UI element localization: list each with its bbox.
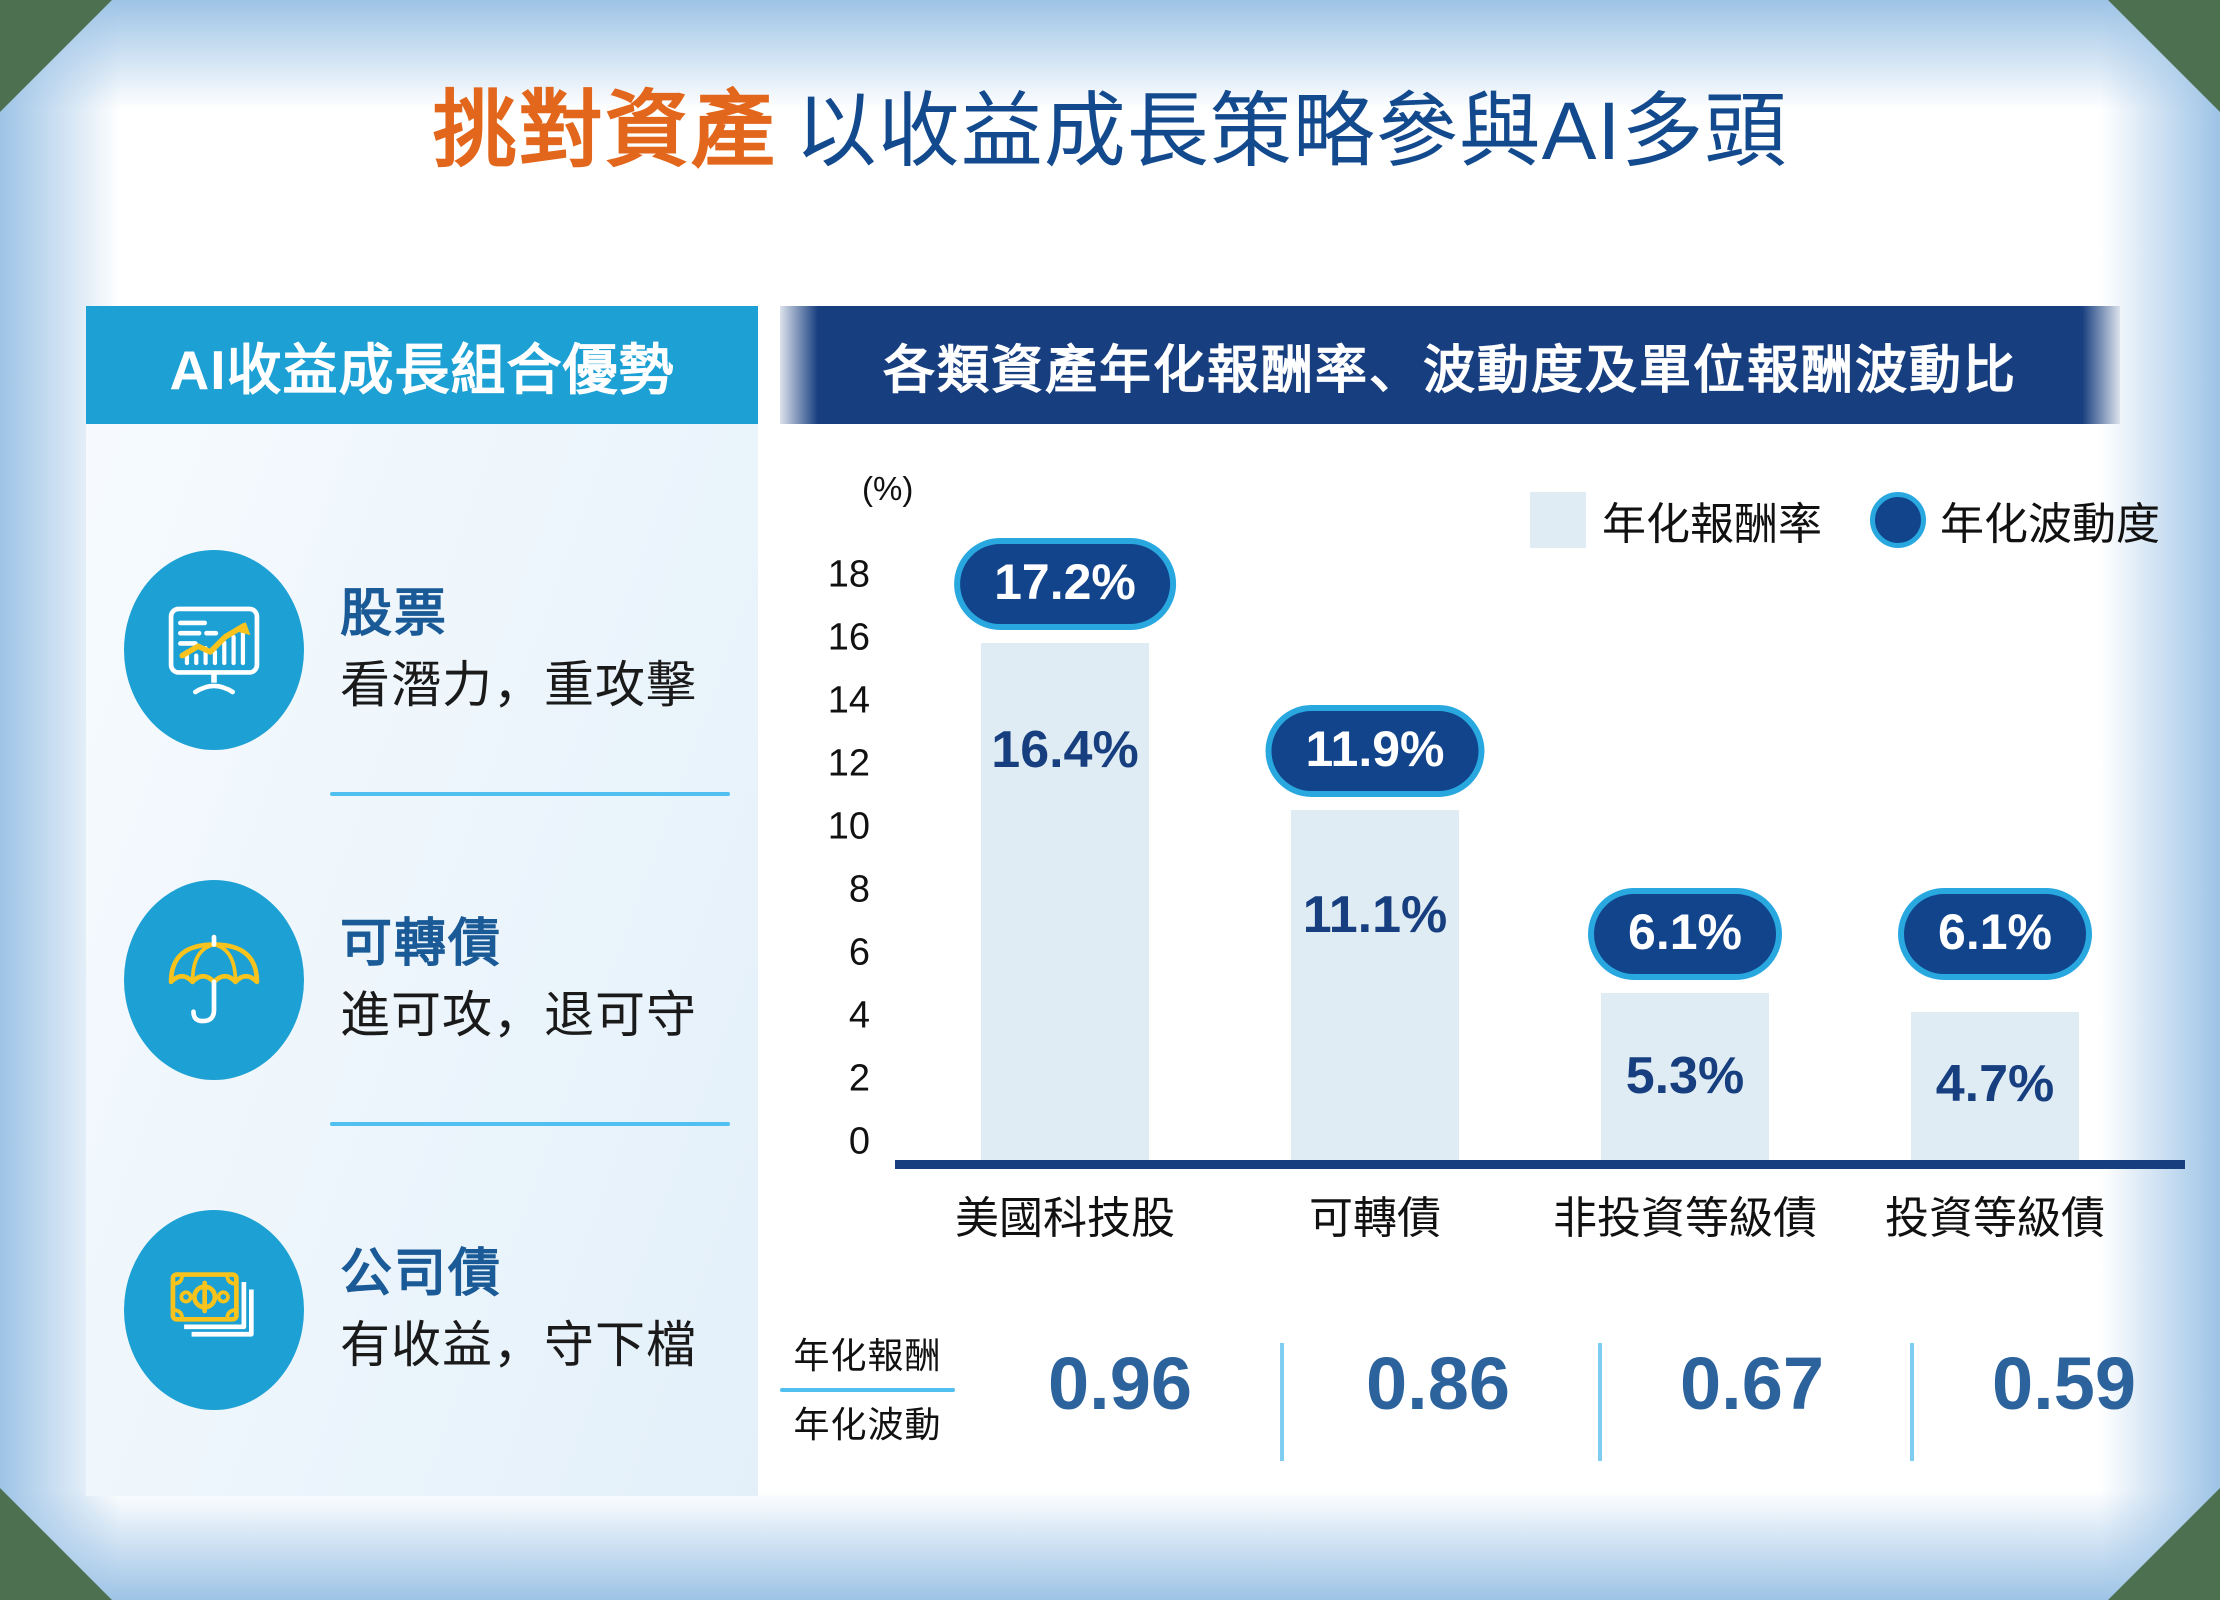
page-title-rest: 以收益成長策略參與AI多頭: [795, 86, 1787, 177]
y-tick: 10: [780, 806, 870, 849]
feature-item-convertible-bond[interactable]: 可轉債 進可攻，退可守: [86, 850, 758, 1110]
chart-panel-header: 各類資產年化報酬率、波動度及單位報酬波動比: [780, 306, 2120, 424]
x-axis-label: 可轉債: [1210, 1182, 1540, 1246]
bar-return-label: 5.3%: [1626, 1046, 1745, 1106]
feature-divider-1: [330, 792, 730, 796]
feature-divider-2: [330, 1122, 730, 1126]
ratio-denominator-label: 年化波動: [780, 1402, 955, 1447]
feature-item-stock[interactable]: 股票 看潛力，重攻擊: [86, 520, 758, 780]
advantages-panel-title: AI收益成長組合優勢: [169, 325, 674, 405]
unit-return-volatility-ratio-row: 年化報酬 年化波動 0.96 0.86 0.67 0.59: [780, 1325, 2180, 1500]
feature-desc: 有收益，守下檔: [340, 1317, 697, 1375]
asset-comparison-chart: 年化報酬率 年化波動度 (%) 18 16 14 12 10 8 6 4 2 0…: [780, 470, 2180, 1300]
bar-return-label: 4.7%: [1936, 1054, 2055, 1114]
feature-desc: 進可攻，退可守: [340, 987, 697, 1045]
y-tick: 0: [780, 1121, 870, 1164]
y-axis-unit: (%): [862, 470, 913, 508]
feature-item-corporate-bond[interactable]: 公司債 有收益，守下檔: [86, 1180, 758, 1440]
y-tick: 14: [780, 680, 870, 723]
ratio-value: 0.86: [1288, 1341, 1588, 1426]
feature-name: 可轉債: [340, 915, 697, 975]
ratio-fraction-bar: [780, 1388, 955, 1392]
volatility-pill: 17.2%: [954, 538, 1176, 630]
x-axis-label: 投資等級債: [1830, 1182, 2160, 1246]
ratio-formula-label: 年化報酬 年化波動: [780, 1333, 955, 1447]
chart-plot-area: 16.4% 17.2% 11.1% 11.9% 5.3% 6.1% 4.7% 6…: [900, 520, 2140, 1160]
x-axis-label: 美國科技股: [900, 1182, 1230, 1246]
banknotes-icon: [124, 1210, 304, 1410]
page-title: 挑對資產以收益成長策略參與AI多頭: [0, 88, 2220, 173]
chart-panel-title: 各類資產年化報酬率、波動度及單位報酬波動比: [883, 328, 2017, 403]
y-tick: 18: [780, 554, 870, 597]
volatility-pill: 6.1%: [1898, 888, 2092, 980]
advantages-panel-header: AI收益成長組合優勢: [86, 306, 758, 424]
y-tick: 6: [780, 932, 870, 975]
feature-name: 公司債: [340, 1245, 697, 1305]
chart-bar-group[interactable]: 11.1% 11.9%: [1220, 520, 1530, 1160]
chart-bar-group[interactable]: 5.3% 6.1%: [1530, 520, 1840, 1160]
umbrella-icon: [124, 880, 304, 1080]
chart-bar-group[interactable]: 4.7% 6.1%: [1840, 520, 2150, 1160]
bar-return-label: 11.1%: [1303, 885, 1448, 945]
feature-name: 股票: [340, 585, 697, 645]
ratio-value: 0.67: [1602, 1341, 1902, 1426]
stock-monitor-icon: [124, 550, 304, 750]
feature-desc: 看潛力，重攻擊: [340, 657, 697, 715]
chart-baseline: [895, 1160, 2185, 1169]
page-title-highlight: 挑對資產: [433, 83, 777, 177]
y-tick: 4: [780, 995, 870, 1038]
volatility-pill: 11.9%: [1265, 705, 1484, 797]
ratio-value: 0.59: [1914, 1341, 2214, 1426]
y-tick: 2: [780, 1058, 870, 1101]
ratio-separator: [1280, 1343, 1284, 1461]
volatility-pill: 6.1%: [1588, 888, 1782, 980]
x-axis-label: 非投資等級債: [1520, 1182, 1850, 1246]
y-tick: 12: [780, 743, 870, 786]
bar-return: [1291, 810, 1459, 1160]
y-tick: 16: [780, 617, 870, 660]
chart-bar-group[interactable]: 16.4% 17.2%: [910, 520, 1220, 1160]
ratio-numerator-label: 年化報酬: [780, 1333, 955, 1378]
y-tick: 8: [780, 869, 870, 912]
bar-return-label: 16.4%: [991, 720, 1138, 780]
ratio-value: 0.96: [970, 1341, 1270, 1426]
